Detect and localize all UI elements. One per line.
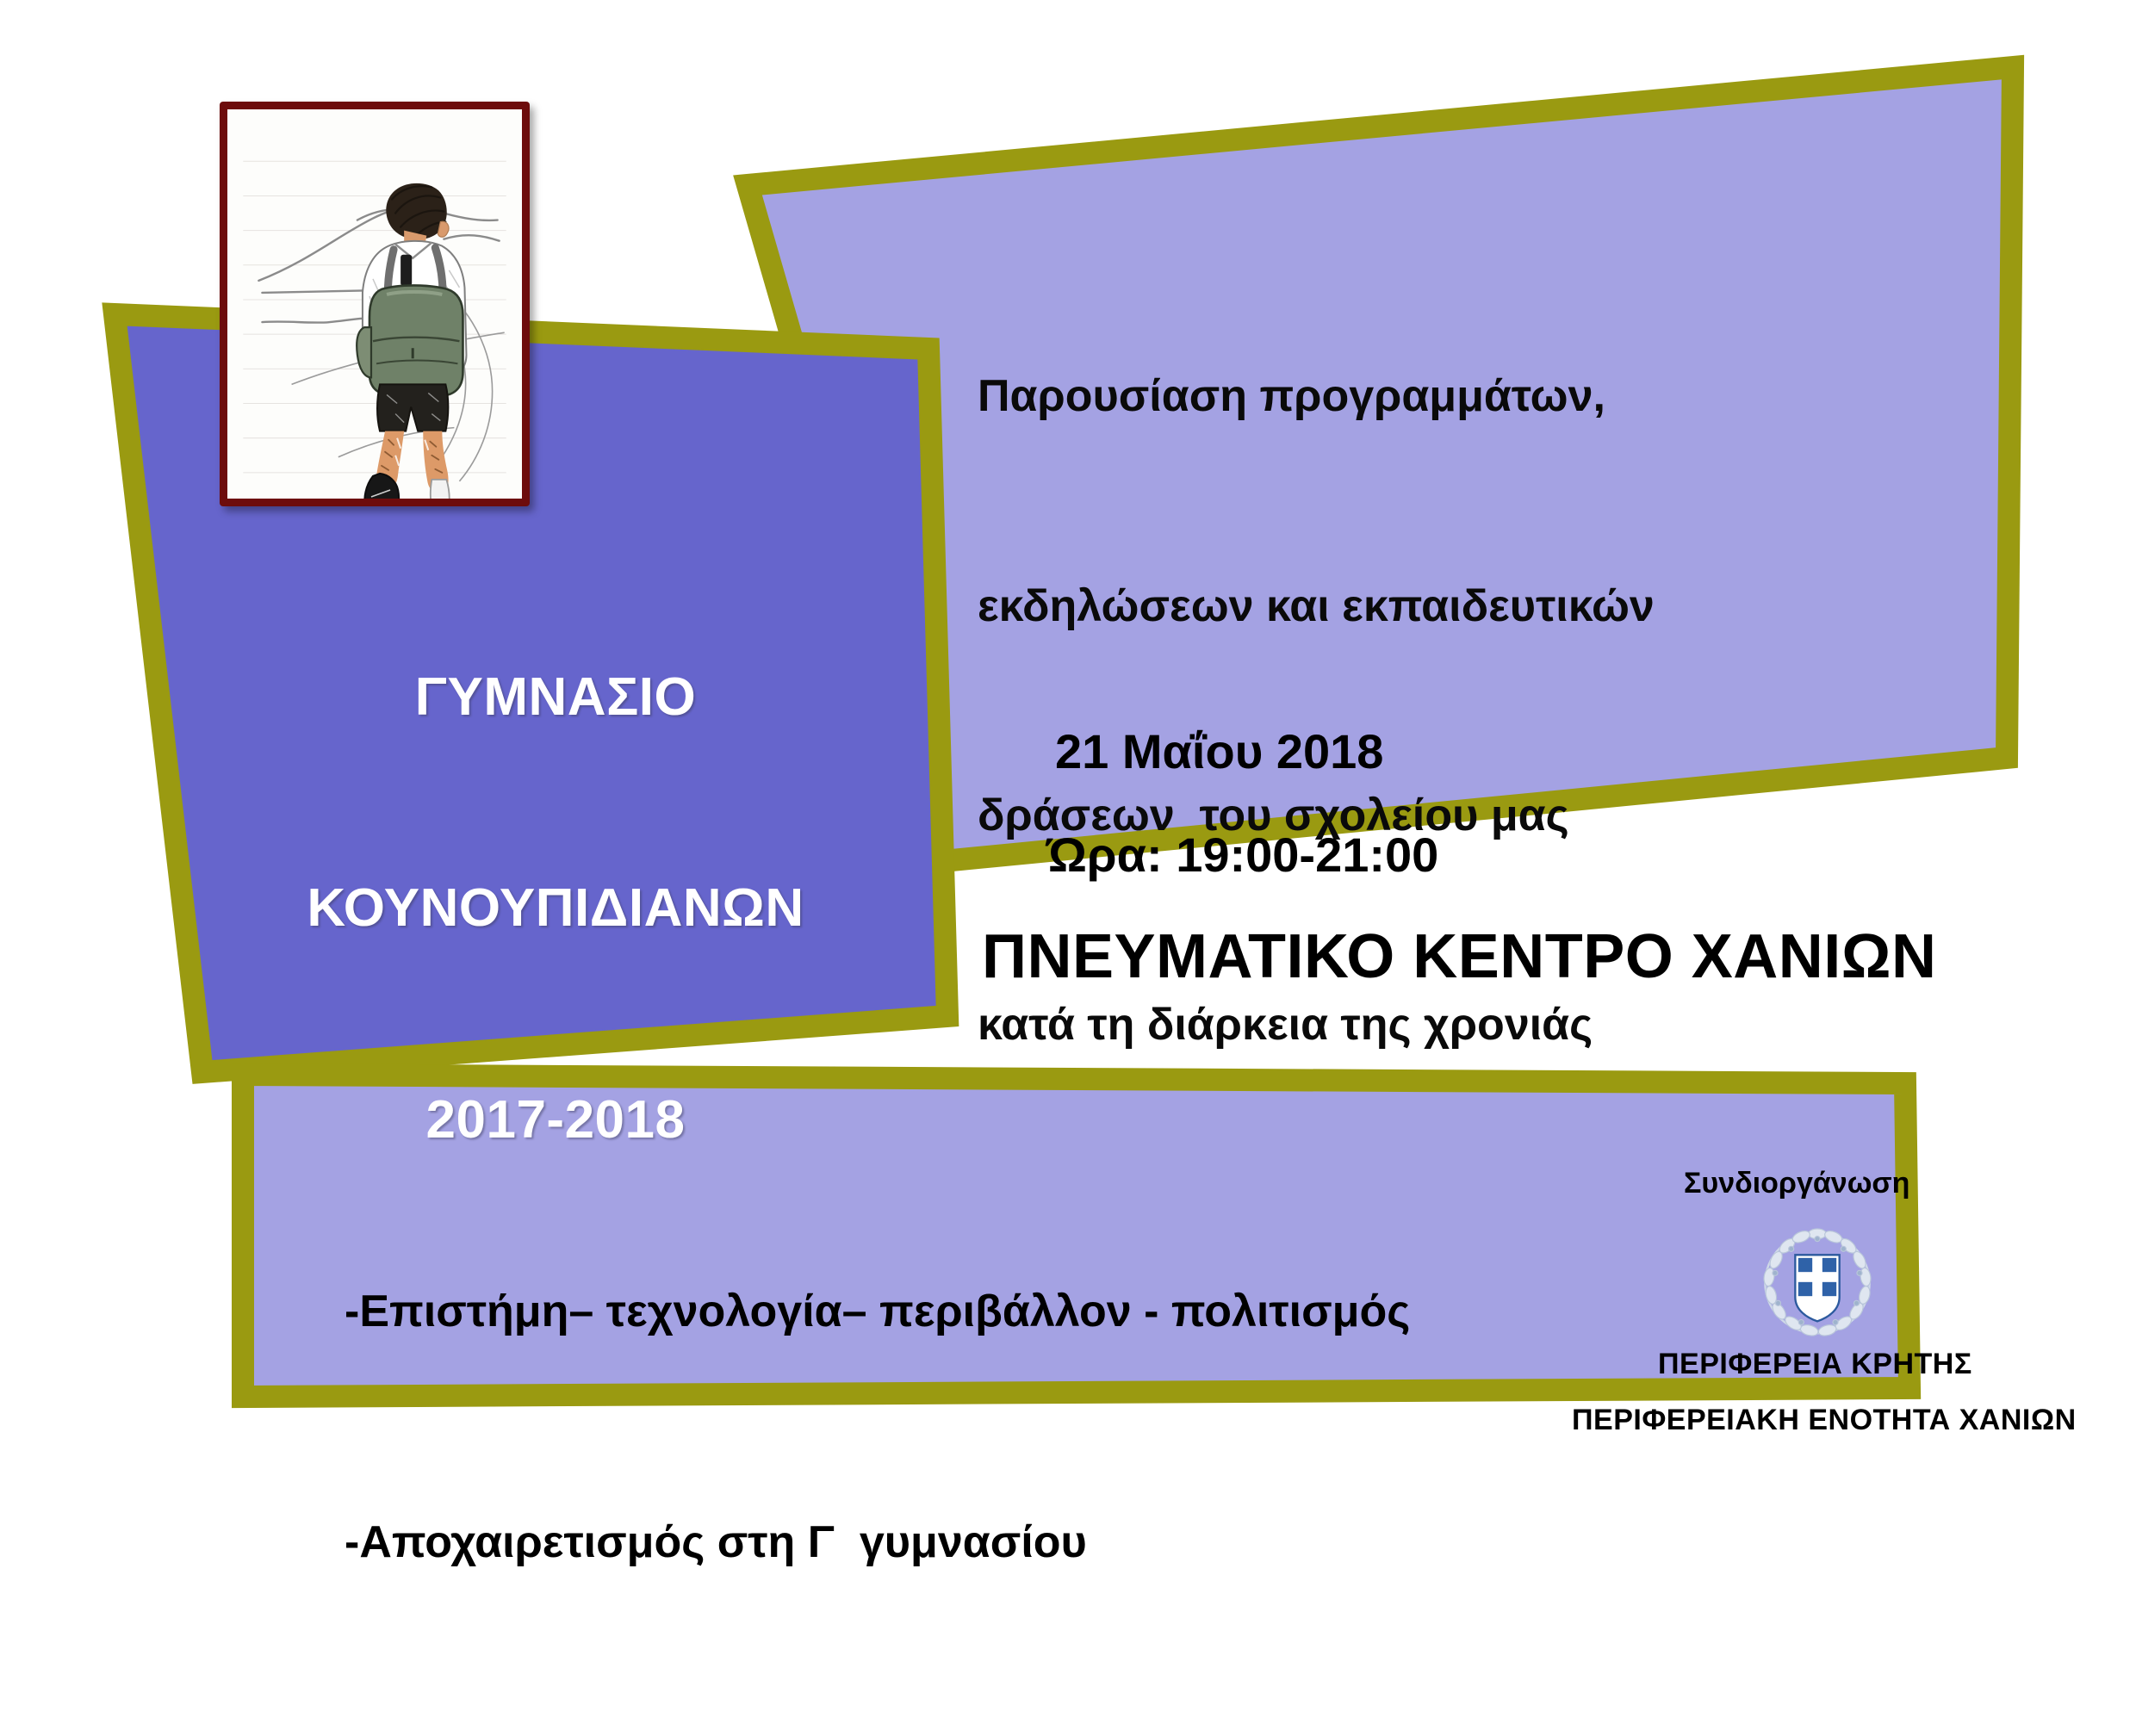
greek-coat-of-arms-icon xyxy=(1757,1223,1878,1343)
artwork-canvas xyxy=(227,109,522,499)
school-name-line-2: ΚΟΥΝΟΥΠΙΔΙΑΝΩΝ xyxy=(228,873,883,944)
school-name-line-1: ΓΥΜΝΑΣΙΟ xyxy=(228,662,883,733)
poster-canvas: ΓΥΜΝΑΣΙΟ ΚΟΥΝΟΥΠΙΔΙΑΝΩΝ 2017-2018 Παρουσ… xyxy=(0,0,2136,1511)
intro-line-1: Παρουσίαση προγραμμάτων, xyxy=(978,362,1787,431)
topics-list: -Επιστήμη– τεχνολογία– περιβάλλον - πολι… xyxy=(345,1119,1568,1736)
intro-line-2: εκδηλώσεων και εκπαιδευτικών xyxy=(978,572,1787,642)
event-venue: ΠΝΕΥΜΑΤΙΚΟ ΚΕΝΤΡΟ ΧΑΝΙΩΝ xyxy=(982,921,1937,992)
topic-line-2: -Αποχαιρετισμός στη Γ γυμνασίου xyxy=(345,1504,1568,1581)
intro-line-4: κατά τη διάρκεια της χρονιάς xyxy=(978,990,1787,1060)
intro-text: Παρουσίαση προγραμμάτων, εκδηλώσεων και … xyxy=(978,222,1787,1200)
topic-line-1: -Επιστήμη– τεχνολογία– περιβάλλον - πολι… xyxy=(345,1274,1568,1350)
boy-with-backpack-sketch xyxy=(227,109,522,499)
event-date: 21 Μαΐου 2018 xyxy=(1055,723,1383,779)
event-time: Ώρα: 19:00-21:00 xyxy=(1046,827,1438,883)
coorganiser-label: Συνδιοργάνωση xyxy=(1684,1167,1909,1200)
regional-unit-name: ΠΕΡΙΦΕΡΕΙΑΚΗ ΕΝΟΤΗΤΑ ΧΑΝΙΩΝ xyxy=(1572,1404,2077,1437)
artwork-frame xyxy=(220,102,530,506)
region-name: ΠΕΡΙΦΕΡΕΙΑ ΚΡΗΤΗΣ xyxy=(1658,1348,1972,1381)
